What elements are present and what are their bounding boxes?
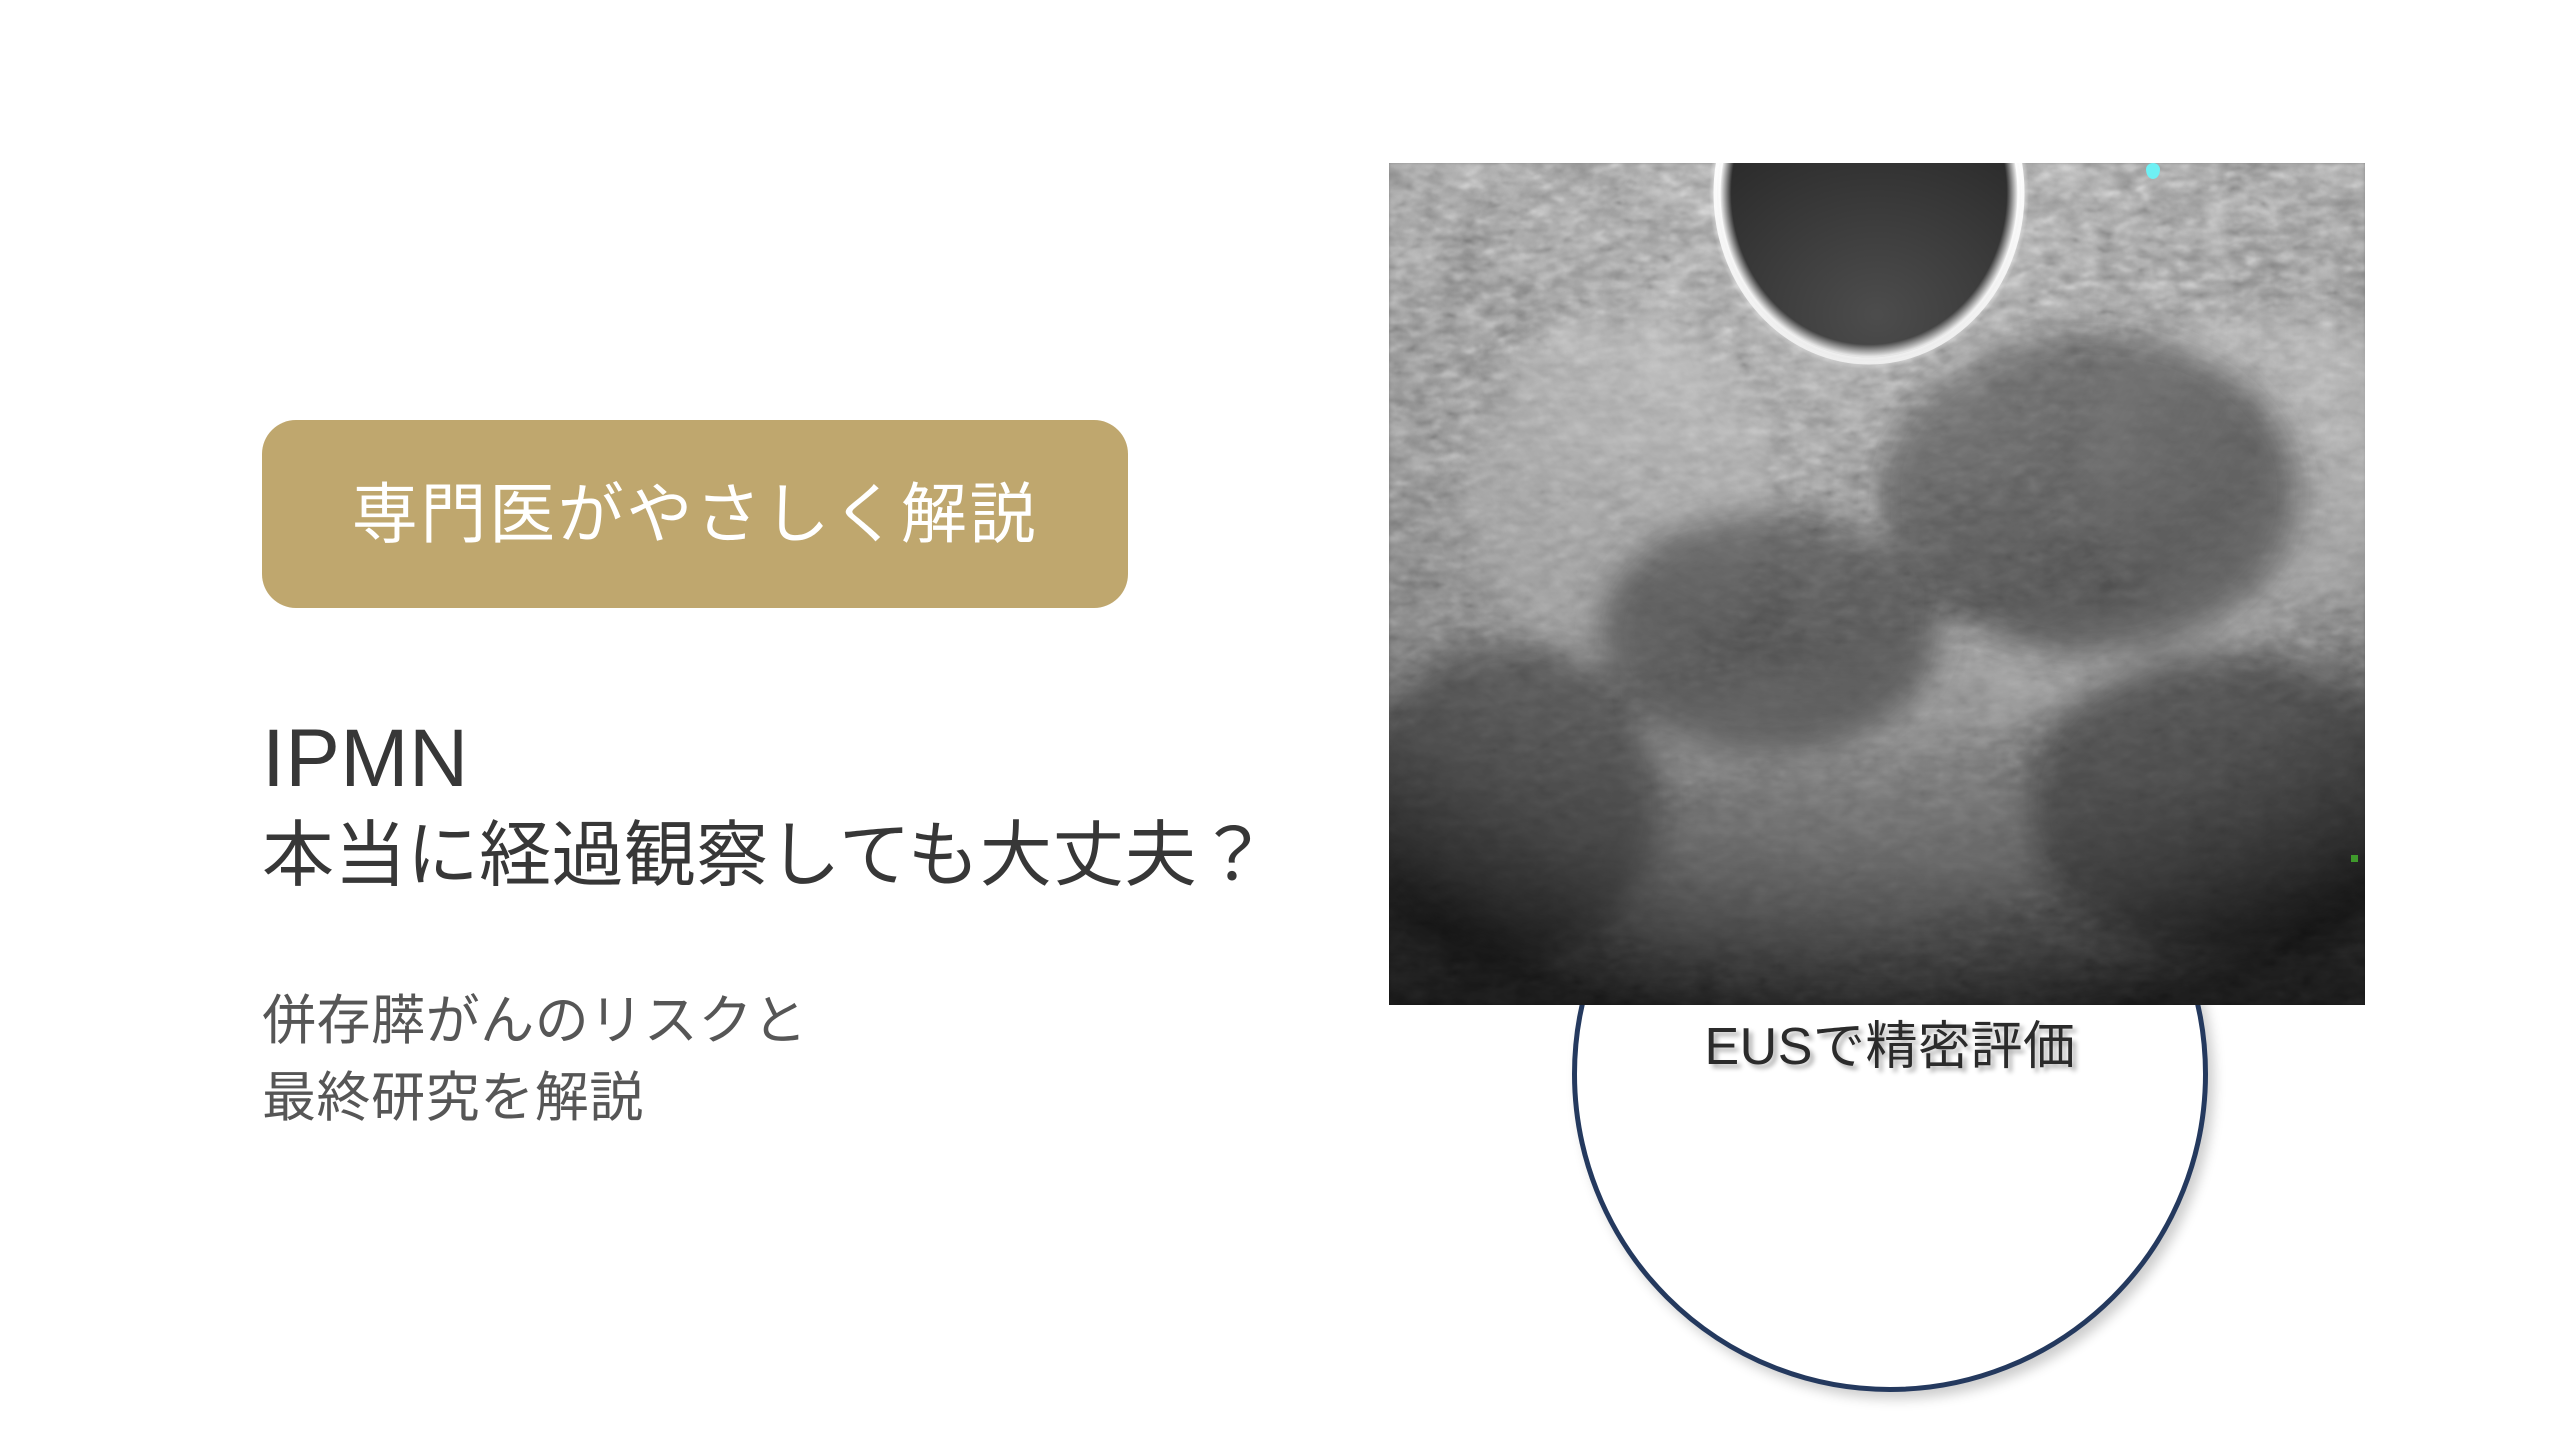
lede-text: 併存膵がんのリスクと 最終研究を解説	[262, 983, 1302, 1136]
eyebrow-badge: 専門医がやさしく解説	[262, 420, 1128, 608]
image-caption: EUSで精密評価	[1572, 1021, 2208, 1073]
eyebrow-badge-label: 専門医がやさしく解説	[352, 481, 1038, 547]
eus-media-group	[1389, 163, 2365, 1005]
eus-ultrasound-image	[1389, 163, 2365, 1005]
green-marker-icon	[2351, 855, 2358, 862]
title-block: IPMN 本当に経過観察しても大丈夫？	[262, 718, 1302, 899]
left-content-column: 専門医がやさしく解説 IPMN 本当に経過観察しても大丈夫？ 併存膵がんのリスク…	[262, 420, 1302, 1136]
page-title-question: 本当に経過観察しても大丈夫？	[262, 814, 1302, 899]
lede-line-1: 併存膵がんのリスクと	[262, 983, 1302, 1060]
page-title: IPMN	[262, 718, 1302, 800]
slide-root: 専門医がやさしく解説 IPMN 本当に経過観察しても大丈夫？ 併存膵がんのリスク…	[0, 0, 2560, 1437]
lede-line-2: 最終研究を解説	[262, 1060, 1302, 1137]
